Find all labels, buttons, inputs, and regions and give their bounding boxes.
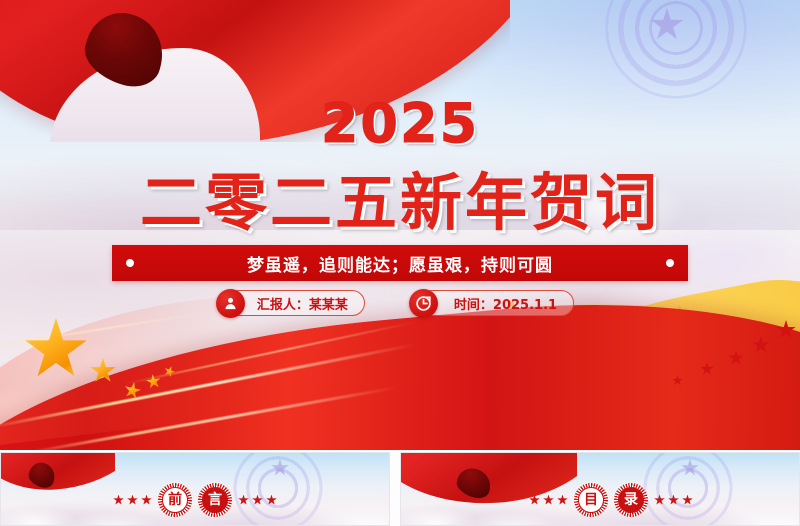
gold-star-icon [122,380,142,400]
red-star-icon [668,495,679,506]
thumbnail-title-row: 前 言 [113,483,277,517]
user-icon [216,289,245,318]
gold-star-icon [162,364,176,378]
flag-stars-group [18,308,238,418]
banner-dot-left [126,259,134,267]
page-title: 二零二五新年贺词 [0,152,800,242]
red-star-icon [252,495,263,506]
seal-inner: 前 [162,487,188,513]
red-star-icon [127,495,138,506]
date-label: 时间：2025.1.1 [454,294,557,313]
seal-icon-1: 目 [574,483,608,517]
red-star-icon [141,495,152,506]
red-star-icon [543,495,554,506]
thumbnail-contents[interactable]: 目 录 [400,452,800,526]
mini-stars-left [113,495,152,506]
red-star-icon [238,495,249,506]
red-star-icon [682,495,693,506]
gold-star-icon [90,358,116,384]
seal-glyph: 言 [208,493,222,507]
red-star-icon [266,495,277,506]
thumbnail-preface[interactable]: 前 言 [0,452,390,526]
seal-glyph: 前 [168,493,182,507]
red-star-icon [654,495,665,506]
mini-stars-left [529,495,568,506]
main-slide[interactable]: 2025 二零二五新年贺词 梦虽遥，追则能达；愿虽艰，持则可圆 汇报人：某某某 [0,0,800,450]
red-star-icon [113,495,124,506]
mini-stars-right [238,495,277,506]
seal-icon-1: 前 [158,483,192,517]
presenter-label: 汇报人：某某某 [257,294,348,313]
seal-icon-2: 录 [614,483,648,517]
subtitle-banner: 梦虽遥，追则能达；愿虽艰，持则可圆 [112,245,688,281]
seal-inner: 目 [578,487,604,513]
slide-thumbnail-strip: 前 言 [0,452,800,526]
date-chip[interactable]: 时间：2025.1.1 [419,290,574,316]
mini-stars-right [654,495,693,506]
seal-inner: 言 [202,487,228,513]
subtitle-text: 梦虽遥，追则能达；愿虽艰，持则可圆 [247,251,553,276]
gold-star-icon [145,373,162,390]
year-heading: 2025 [0,92,800,155]
gold-star-icon [24,318,88,382]
seal-icon-2: 言 [198,483,232,517]
presentation-stage: 2025 二零二五新年贺词 梦虽遥，追则能达；愿虽艰，持则可圆 汇报人：某某某 [0,0,800,526]
banner-dot-right [666,259,674,267]
seal-inner: 录 [618,487,644,513]
seal-glyph: 目 [584,493,598,507]
seal-glyph: 录 [624,493,638,507]
thumbnail-title-row: 目 录 [529,483,693,517]
clock-icon [409,289,438,318]
meta-info-row: 汇报人：某某某 时间：2025.1.1 [0,290,800,316]
red-star-icon [557,495,568,506]
presenter-chip[interactable]: 汇报人：某某某 [226,290,365,316]
red-star-icon [529,495,540,506]
